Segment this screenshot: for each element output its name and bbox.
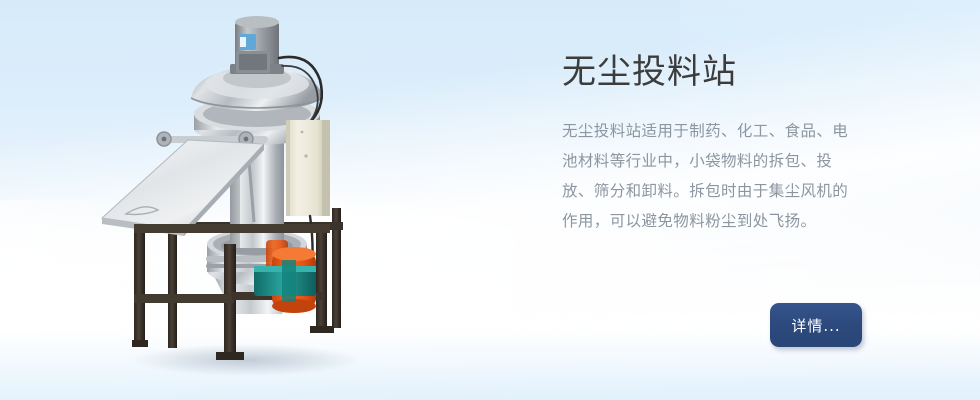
machine-control-box bbox=[286, 120, 330, 216]
banner-title: 无尘投料站 bbox=[562, 50, 892, 94]
machine-top-motor bbox=[230, 16, 284, 74]
banner-description: 无尘投料站适用于制药、化工、食品、电池材料等行业中，小袋物料的拆包、投放、筛分和… bbox=[562, 94, 862, 236]
product-image bbox=[96, 8, 396, 380]
detail-button[interactable]: 详情... bbox=[770, 303, 862, 347]
machine-shadow bbox=[131, 344, 361, 376]
dust-free-feeding-station-illustration bbox=[96, 8, 396, 380]
product-banner: 无尘投料站 无尘投料站适用于制药、化工、食品、电池材料等行业中，小袋物料的拆包、… bbox=[0, 0, 980, 400]
motor-bracket bbox=[254, 260, 316, 302]
banner-text-block: 无尘投料站 无尘投料站适用于制药、化工、食品、电池材料等行业中，小袋物料的拆包、… bbox=[562, 50, 892, 236]
